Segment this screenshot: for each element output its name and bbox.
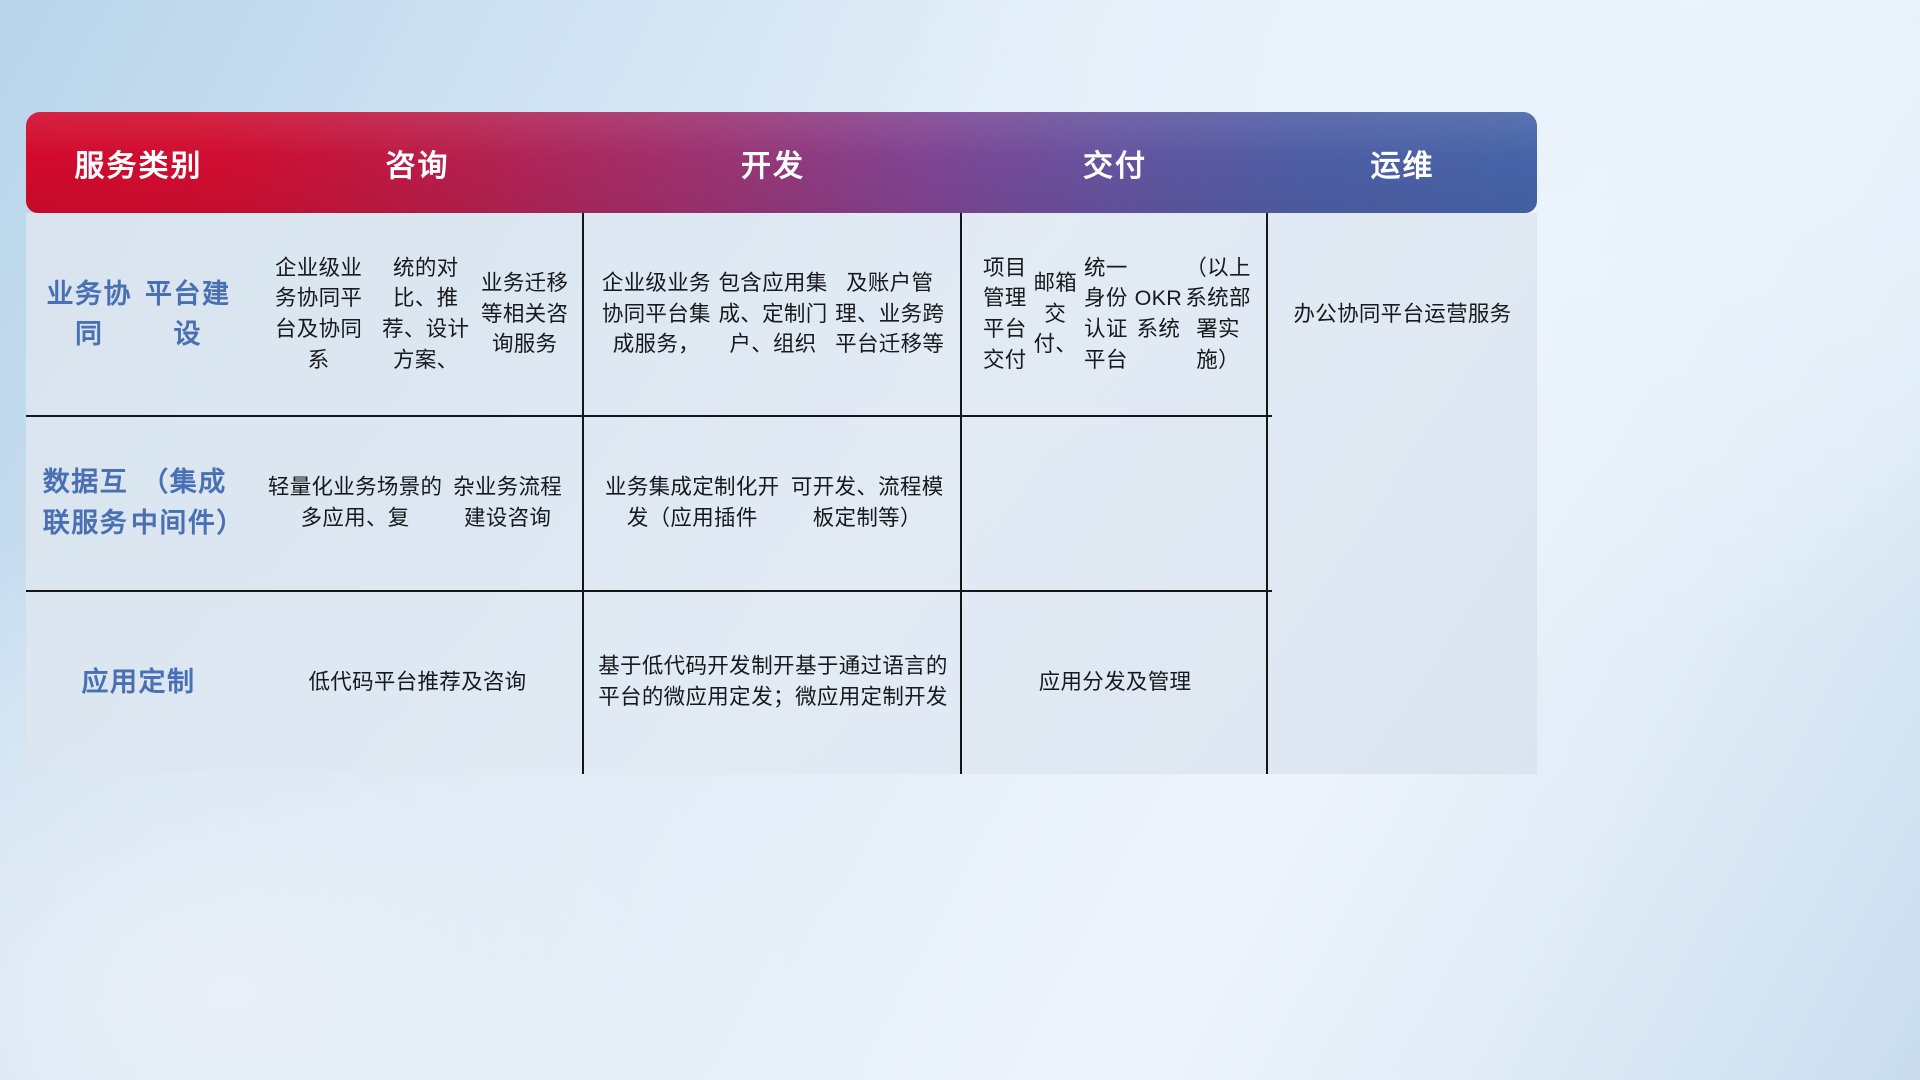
row-label-data-interconnect: 数据互联服务（集成中间件） [26, 415, 251, 590]
service-category-table: 服务类别 咨询 开发 交付 运维 业务协同平台建设 企业级业务协同平台及协同系统… [26, 112, 1537, 774]
cell-delivery-row3: 应用分发及管理 [962, 590, 1268, 774]
cell-consulting-row3: 低代码平台推荐及咨询 [251, 590, 584, 774]
cell-delivery-row2 [962, 415, 1268, 590]
row-label-app-customization: 应用定制 [26, 590, 251, 774]
row-label-business-collaboration: 业务协同平台建设 [26, 213, 251, 415]
table-row: 数据互联服务（集成中间件） 轻量化业务场景的多应用、复杂业务流程建设咨询 业务集… [26, 415, 1537, 590]
cell-operations-row3 [1268, 590, 1537, 774]
cell-delivery-row1: 项目管理平台交付邮箱交付、统一身份认证平台OKR系统（以上系统部署实施） [962, 213, 1268, 415]
cell-development-row2: 业务集成定制化开发（应用插件可开发、流程模板定制等） [584, 415, 962, 590]
cell-operations-row2 [1268, 415, 1537, 590]
table-header-row: 服务类别 咨询 开发 交付 运维 [26, 112, 1537, 213]
cell-development-row1: 企业级业务协同平台集成服务，包含应用集成、定制门户、组织及账户管理、业务跨平台迁… [584, 213, 962, 415]
slide-canvas: 服务类别 咨询 开发 交付 运维 业务协同平台建设 企业级业务协同平台及协同系统… [0, 0, 1920, 1080]
cell-consulting-row1: 企业级业务协同平台及协同系统的对比、推荐、设计方案、业务迁移等相关咨询服务 [251, 213, 584, 415]
column-header-consulting: 咨询 [251, 141, 584, 185]
column-header-category: 服务类别 [26, 141, 251, 185]
table-row: 业务协同平台建设 企业级业务协同平台及协同系统的对比、推荐、设计方案、业务迁移等… [26, 213, 1537, 415]
cell-operations-row1: 办公协同平台运营服务 [1268, 213, 1537, 415]
column-header-operations: 运维 [1268, 141, 1537, 185]
column-header-delivery: 交付 [962, 141, 1268, 185]
table-body: 业务协同平台建设 企业级业务协同平台及协同系统的对比、推荐、设计方案、业务迁移等… [26, 213, 1537, 774]
cell-consulting-row2: 轻量化业务场景的多应用、复杂业务流程建设咨询 [251, 415, 584, 590]
table-row: 应用定制 低代码平台推荐及咨询 基于低代码开发平台的微应用定制开发；基于通过语言… [26, 590, 1537, 774]
column-header-development: 开发 [584, 141, 962, 185]
cell-development-row3: 基于低代码开发平台的微应用定制开发；基于通过语言的微应用定制开发 [584, 590, 962, 774]
